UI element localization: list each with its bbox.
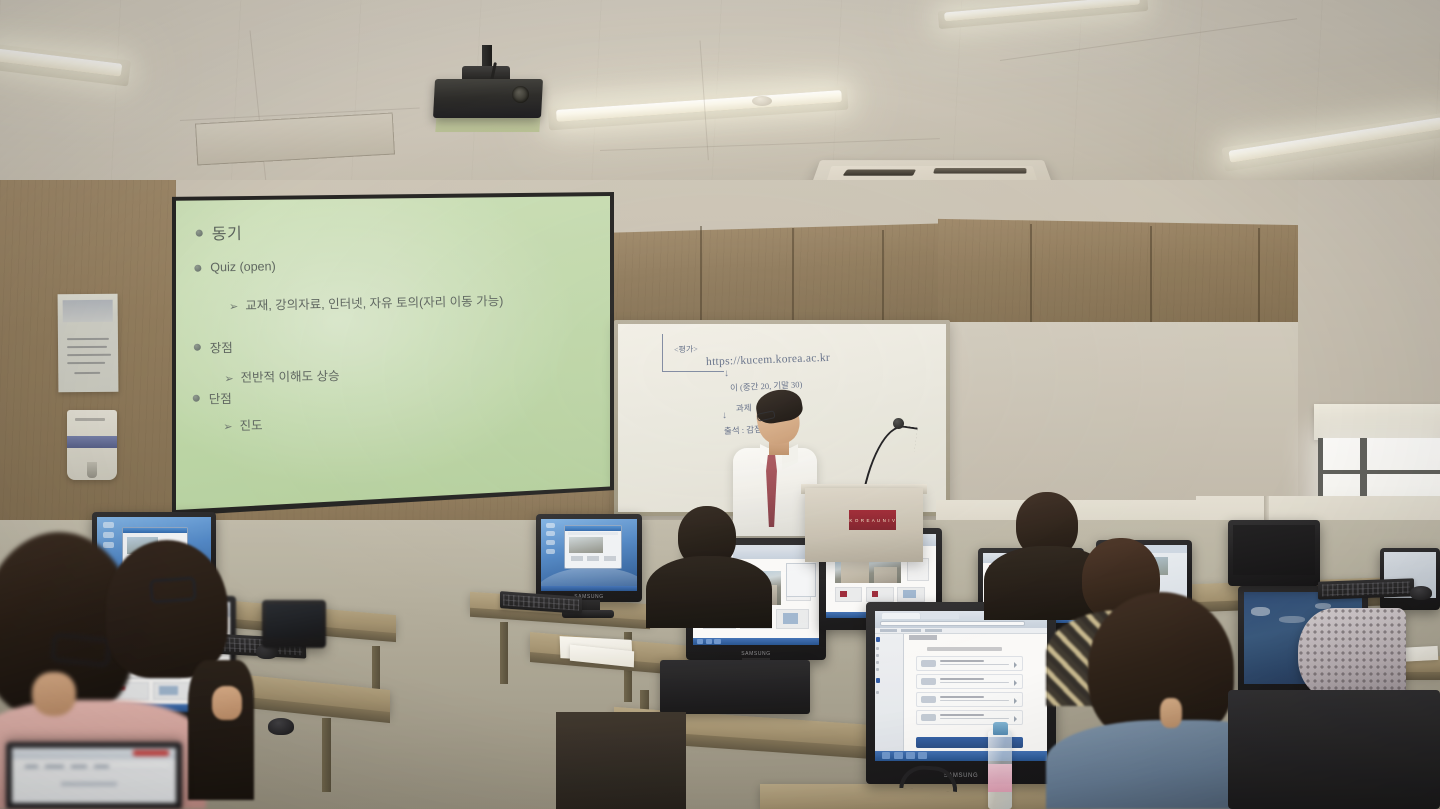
page-card[interactable] bbox=[571, 556, 583, 561]
monitor-back-panel-right bbox=[1228, 690, 1440, 809]
taskbar-button[interactable] bbox=[697, 639, 703, 644]
student-ear-front-left bbox=[32, 672, 76, 716]
chevron-right-icon bbox=[1014, 680, 1017, 686]
list-item[interactable] bbox=[916, 656, 1023, 671]
taskbar-button[interactable] bbox=[906, 752, 915, 759]
monitor-screen[interactable] bbox=[875, 611, 1047, 761]
slide-bullet-row-1: 동기 bbox=[196, 220, 243, 245]
laptop-left[interactable] bbox=[6, 742, 182, 809]
bottle-cap[interactable] bbox=[993, 722, 1008, 735]
whiteboard-arrow-icon: ↓ bbox=[724, 368, 729, 379]
whiteboard-note: 출석 : 감점 bbox=[724, 423, 762, 437]
hero-building bbox=[874, 567, 896, 583]
whiteboard-note: 과제 bbox=[736, 402, 752, 415]
ac-vent bbox=[843, 169, 917, 175]
keyboard-keys bbox=[1322, 581, 1410, 596]
toolbar-item[interactable] bbox=[71, 765, 87, 768]
wood-panel-divider bbox=[1258, 228, 1260, 334]
monitor-brand-label: SAMSUNG bbox=[866, 773, 1056, 779]
dispenser-label bbox=[75, 418, 105, 421]
notice-text-line bbox=[74, 372, 100, 374]
wood-panel-divider bbox=[882, 230, 884, 330]
slide-bullet-icon bbox=[196, 229, 203, 236]
page-card[interactable] bbox=[604, 556, 616, 561]
wood-grain bbox=[612, 223, 942, 332]
list-item-icon bbox=[921, 660, 936, 668]
bottle-label bbox=[988, 764, 1012, 792]
wood-panel-center bbox=[612, 223, 942, 332]
whiteboard-arrow-icon: ↓ bbox=[722, 410, 727, 421]
laptop-screen[interactable] bbox=[12, 748, 176, 803]
list-item-icon bbox=[921, 714, 936, 722]
desktop-icon[interactable] bbox=[546, 523, 556, 528]
taskbar-button[interactable] bbox=[714, 639, 720, 644]
notice-text-line bbox=[67, 354, 111, 356]
monitor-back-left[interactable]: SAMSUNG bbox=[536, 514, 642, 602]
slide-line-text: 장점 bbox=[210, 337, 233, 356]
notice-header-band bbox=[63, 300, 113, 322]
portal-sidebar[interactable] bbox=[875, 634, 904, 754]
classroom-photo-scene: 동기 Quiz (open) ➢ 교재, 강의자료, 인터넷, 자유 토의(자리… bbox=[0, 0, 1440, 809]
wood-panel-right bbox=[938, 219, 1302, 337]
slide-arrow-bullet-icon: ➢ bbox=[229, 302, 238, 313]
microphone-head-icon bbox=[893, 418, 904, 429]
list-item-title bbox=[940, 678, 984, 680]
sidebar-item[interactable] bbox=[876, 661, 879, 664]
dispenser-nozzle[interactable] bbox=[87, 462, 97, 478]
page-image bbox=[569, 537, 602, 553]
bookmark-item[interactable] bbox=[901, 629, 922, 633]
taskbar-button[interactable] bbox=[706, 639, 712, 644]
taskbar[interactable] bbox=[541, 586, 637, 591]
slide-bullet-row-5: ➢ 전반적 이해도 상승 bbox=[224, 365, 340, 386]
slide-content: 동기 Quiz (open) ➢ 교재, 강의자료, 인터넷, 자유 토의(자리… bbox=[187, 201, 612, 509]
wall-dispenser[interactable] bbox=[67, 410, 117, 480]
card-thumb bbox=[159, 686, 178, 695]
podium-sign: K O R E A U N I V bbox=[849, 510, 896, 530]
monitor-screen[interactable] bbox=[266, 604, 322, 638]
card-thumb bbox=[903, 590, 916, 598]
slide-line-text: 전반적 이해도 상승 bbox=[240, 365, 339, 386]
smoke-detector bbox=[752, 96, 772, 106]
content-card[interactable] bbox=[776, 609, 808, 629]
ac-vent bbox=[933, 168, 1026, 174]
wall-notice bbox=[58, 294, 119, 393]
list-item-title bbox=[940, 660, 984, 662]
monitor-back-panel-center bbox=[660, 660, 810, 714]
slide-line-text: 단점 bbox=[209, 388, 232, 407]
browser-tab[interactable] bbox=[882, 613, 920, 619]
slide-line-text: Quiz (open) bbox=[210, 259, 276, 274]
monitor-screen[interactable] bbox=[1233, 525, 1315, 575]
slide-bullet-row-2: Quiz (open) bbox=[194, 259, 276, 274]
mouse-left-front[interactable] bbox=[268, 718, 294, 735]
toolbar-item[interactable] bbox=[94, 765, 109, 768]
student-glasses-icon-second bbox=[149, 576, 197, 603]
dispenser-band bbox=[67, 436, 117, 448]
desk-leg bbox=[500, 622, 508, 684]
whiteboard-url: https://kucem.korea.ac.kr bbox=[706, 352, 830, 368]
sidebar-item[interactable] bbox=[876, 654, 879, 657]
projector-lens bbox=[512, 86, 529, 103]
student-neck-front-right bbox=[1160, 698, 1182, 728]
popup-panel[interactable] bbox=[786, 563, 816, 597]
slide-bullet-row-3: ➢ 교재, 강의자료, 인터넷, 자유 토의(자리 이동 가능) bbox=[229, 290, 504, 314]
wood-panel-divider bbox=[1030, 224, 1032, 332]
window-mullion bbox=[1318, 470, 1440, 474]
whiteboard-stroke bbox=[662, 334, 663, 372]
monitor-far-right-back[interactable] bbox=[1228, 520, 1320, 586]
slide-bullet-icon bbox=[193, 395, 200, 402]
slide-line-text: 교재, 강의자료, 인터넷, 자유 토의(자리 이동 가능) bbox=[245, 290, 503, 314]
window-controls[interactable] bbox=[133, 750, 169, 756]
notice-text-line bbox=[67, 338, 109, 340]
card-badge bbox=[840, 591, 847, 597]
slide-bullet-row-6: 단점 bbox=[193, 388, 232, 408]
notice-text-line bbox=[67, 362, 105, 364]
page-text-line bbox=[61, 782, 117, 786]
content-card[interactable] bbox=[897, 587, 925, 602]
bookmark-item[interactable] bbox=[925, 629, 942, 633]
desktop-icon[interactable] bbox=[546, 540, 556, 545]
hero-building bbox=[841, 562, 869, 583]
wallpaper-cloud bbox=[1251, 607, 1270, 616]
desktop-icon[interactable] bbox=[103, 522, 114, 528]
window-blind[interactable] bbox=[1314, 404, 1440, 440]
toolbar-item[interactable] bbox=[25, 765, 38, 768]
window-titlebar[interactable] bbox=[123, 528, 187, 533]
content-card[interactable] bbox=[153, 682, 192, 700]
taskbar-button[interactable] bbox=[894, 752, 903, 759]
list-item[interactable] bbox=[916, 674, 1023, 689]
student-body-left-second bbox=[188, 660, 254, 800]
content-card[interactable] bbox=[835, 587, 863, 602]
page-subtitle bbox=[927, 647, 1003, 651]
list-item-icon bbox=[921, 696, 936, 704]
browser-window[interactable] bbox=[564, 525, 622, 570]
student-shoulders-center-back bbox=[646, 556, 772, 628]
toolbar[interactable] bbox=[568, 532, 618, 535]
sidebar-item-selected[interactable] bbox=[876, 678, 880, 683]
monitor-brand-label: SAMSUNG bbox=[686, 651, 826, 657]
bookmark-item[interactable] bbox=[880, 629, 897, 633]
desk-panel-front bbox=[556, 712, 686, 809]
slide-bullet-row-7: ➢ 진도 bbox=[223, 415, 263, 435]
chevron-right-icon bbox=[1014, 716, 1017, 722]
wood-grain bbox=[938, 219, 1302, 337]
list-item-title bbox=[940, 714, 984, 716]
slide-line-text: 동기 bbox=[212, 220, 243, 245]
browser-tab[interactable] bbox=[921, 613, 959, 619]
slide-arrow-bullet-icon: ➢ bbox=[223, 422, 232, 433]
list-item-icon bbox=[921, 678, 936, 686]
slide-bullet-icon bbox=[194, 264, 201, 271]
address-bar[interactable] bbox=[880, 621, 1024, 626]
whiteboard-stroke bbox=[662, 371, 724, 372]
list-item-title bbox=[940, 696, 984, 698]
student-glasses-icon bbox=[51, 633, 112, 667]
office-chair[interactable] bbox=[1298, 608, 1406, 698]
desktop-icon[interactable] bbox=[546, 531, 556, 536]
keyboard-keys bbox=[503, 594, 578, 611]
window-titlebar[interactable] bbox=[565, 526, 621, 531]
desktop-icon[interactable] bbox=[103, 532, 114, 538]
student-head-left-second bbox=[106, 540, 228, 678]
card-row bbox=[835, 587, 925, 602]
browser-window[interactable] bbox=[875, 611, 1047, 761]
sidebar-item[interactable] bbox=[876, 668, 879, 671]
list-item-subtitle bbox=[940, 718, 1009, 720]
sidebar-item-selected[interactable] bbox=[876, 637, 880, 642]
chair-mesh-pattern bbox=[1298, 608, 1406, 698]
card-badge bbox=[872, 591, 879, 597]
page-card[interactable] bbox=[587, 556, 599, 561]
slide-bullet-row-4: 장점 bbox=[194, 337, 233, 357]
desktop-icon[interactable] bbox=[546, 549, 556, 554]
monitor-screen[interactable] bbox=[541, 519, 637, 591]
list-item-subtitle bbox=[940, 682, 1009, 684]
keyboard-right[interactable] bbox=[1318, 578, 1414, 599]
mouse-right[interactable] bbox=[1410, 586, 1432, 600]
notice-text-line bbox=[67, 346, 107, 348]
content-card[interactable] bbox=[866, 587, 894, 602]
wood-panel-divider bbox=[700, 226, 702, 328]
student-hand bbox=[212, 686, 242, 720]
desktop-wallpaper bbox=[541, 519, 637, 591]
desktop-icon[interactable] bbox=[103, 542, 114, 548]
slide-bullet-icon bbox=[194, 344, 201, 351]
wood-panel-divider bbox=[1150, 226, 1152, 334]
podium-sign-text: K O R E A U N I V bbox=[849, 518, 895, 523]
wood-panel-divider bbox=[792, 228, 794, 330]
toolbar-item[interactable] bbox=[45, 765, 65, 768]
taskbar[interactable] bbox=[693, 638, 819, 645]
taskbar-button[interactable] bbox=[918, 752, 927, 759]
list-item-subtitle bbox=[940, 664, 1009, 666]
taskbar-button[interactable] bbox=[882, 752, 891, 759]
monitor-small-left[interactable] bbox=[262, 600, 326, 648]
sidebar-item[interactable] bbox=[876, 691, 879, 694]
page-heading bbox=[909, 635, 937, 640]
chevron-right-icon bbox=[1014, 698, 1017, 704]
sidebar-item[interactable] bbox=[876, 647, 879, 650]
slide-arrow-bullet-icon: ➢ bbox=[224, 374, 233, 385]
desk-leg bbox=[322, 718, 331, 792]
monitor-center-low[interactable]: SAMSUNG bbox=[866, 602, 1056, 784]
whiteboard-label: <평가> bbox=[674, 344, 698, 356]
list-item-subtitle bbox=[940, 700, 1009, 702]
list-item[interactable] bbox=[916, 692, 1023, 707]
card-thumb bbox=[783, 613, 798, 624]
slide-line-text: 진도 bbox=[239, 415, 262, 434]
chevron-right-icon bbox=[1014, 662, 1017, 668]
